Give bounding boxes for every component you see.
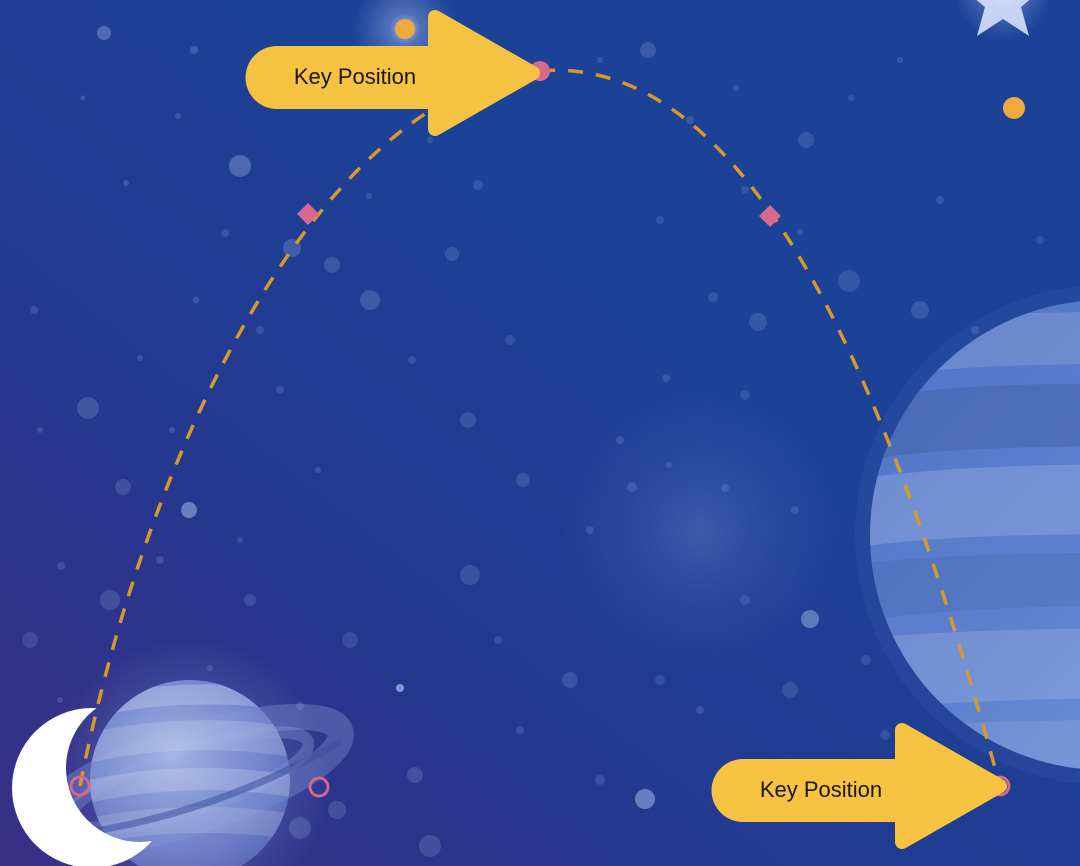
star-dot	[407, 767, 423, 783]
star-dot	[597, 57, 603, 63]
star-dot	[791, 506, 799, 514]
crescent-moon	[0, 690, 200, 866]
star-dot	[635, 789, 655, 809]
star-dot	[662, 374, 670, 382]
star-dot	[156, 556, 164, 564]
star-dot	[100, 590, 120, 610]
star-dot	[123, 180, 129, 186]
star-dot	[586, 526, 594, 534]
star-dot	[256, 326, 264, 334]
star-dot	[342, 632, 358, 648]
arrow-label: Key Position	[760, 777, 882, 802]
star-dot	[616, 436, 624, 444]
star-dot	[696, 706, 704, 714]
star-dot	[181, 502, 197, 518]
star-dot	[460, 565, 480, 585]
star-dot	[315, 467, 321, 473]
star-dot	[686, 116, 694, 124]
nebula-glow	[560, 390, 840, 670]
star-dot	[221, 229, 229, 237]
star-dot	[562, 672, 578, 688]
star-dot	[595, 775, 605, 785]
star-dot	[880, 730, 890, 740]
star-dot	[360, 290, 380, 310]
star-dot	[627, 482, 637, 492]
star-dot	[708, 292, 718, 302]
star-dot	[229, 155, 251, 177]
star-dot	[37, 427, 43, 433]
star-dot	[861, 655, 871, 665]
star-dot	[640, 42, 656, 58]
star-dot	[1036, 236, 1044, 244]
star-dot	[516, 473, 530, 487]
star-dot	[460, 412, 476, 428]
star-dot	[656, 216, 664, 224]
star-dot	[366, 193, 372, 199]
star-dot	[190, 46, 198, 54]
star-dot	[396, 684, 404, 692]
star-dot	[801, 610, 819, 628]
star-dot	[57, 562, 65, 570]
star-dot	[193, 297, 200, 304]
star-dot	[445, 247, 459, 261]
star-dot	[328, 801, 346, 819]
star-dot	[838, 270, 860, 292]
star-dot	[137, 355, 143, 361]
star-dot	[408, 356, 416, 364]
star-dot	[494, 636, 502, 644]
star-dot	[419, 835, 441, 857]
star-dot	[276, 386, 284, 394]
star-dot	[655, 675, 665, 685]
star-dot	[97, 26, 111, 40]
star-dot	[741, 186, 749, 194]
star-dot	[666, 462, 672, 468]
star-dot	[516, 726, 524, 734]
illustration-canvas: Key PositionKey Position	[0, 0, 1080, 866]
star-dot	[797, 229, 803, 235]
star-dot	[81, 96, 86, 101]
star-dot	[427, 137, 433, 143]
star-dot	[897, 57, 903, 63]
star-dot	[740, 595, 750, 605]
orange-dot	[1003, 97, 1025, 119]
star-dot	[169, 427, 175, 433]
star-dot	[237, 537, 243, 543]
star-dot	[324, 257, 340, 273]
star-dot	[115, 479, 131, 495]
star-dot	[798, 132, 814, 148]
star-dot	[473, 180, 483, 190]
star-dot	[740, 390, 750, 400]
star-dot	[911, 301, 929, 319]
star-dot	[936, 196, 944, 204]
star-dot	[244, 594, 256, 606]
space-trajectory-illustration: Key PositionKey Position	[0, 0, 1080, 866]
star-dot	[505, 335, 515, 345]
star-dot	[77, 397, 99, 419]
star-dot	[22, 632, 38, 648]
star-dot	[30, 306, 38, 314]
star-dot	[175, 113, 181, 119]
star-dot	[749, 313, 767, 331]
arrow-label: Key Position	[294, 64, 416, 89]
star-dot	[733, 85, 739, 91]
star-dot	[848, 95, 854, 101]
star-dot	[721, 484, 729, 492]
star-dot	[782, 682, 798, 698]
